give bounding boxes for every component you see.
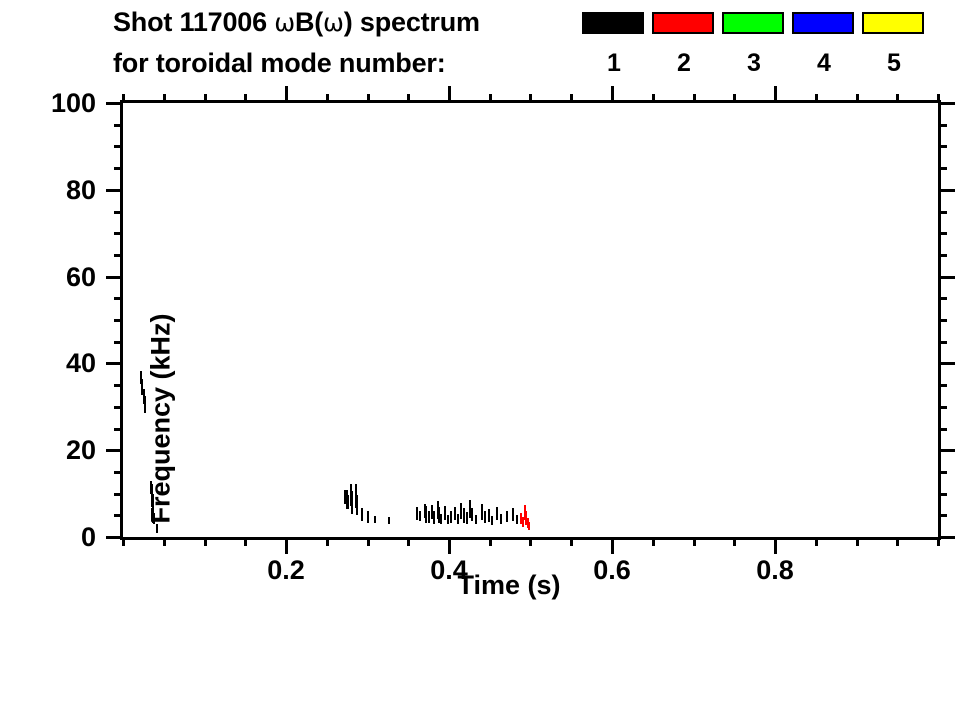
data-mark xyxy=(361,508,363,521)
data-mark xyxy=(471,508,473,521)
x-minor-tick-top xyxy=(122,94,125,103)
x-minor-tick-bottom xyxy=(367,537,370,546)
data-mark xyxy=(416,507,418,519)
omega-symbol-2: ω xyxy=(323,8,344,37)
y-minor-tick-left xyxy=(114,254,123,257)
y-major-tick-left-40 xyxy=(106,362,123,365)
plot-data-canvas xyxy=(123,103,938,537)
x-minor-tick-bottom xyxy=(937,537,940,546)
y-tick-label-20: 20 xyxy=(6,437,96,464)
y-minor-tick-left xyxy=(114,514,123,517)
x-minor-tick-top xyxy=(652,94,655,103)
data-mark xyxy=(506,511,508,522)
x-minor-tick-top xyxy=(244,94,247,103)
x-major-tick-bottom-0.4 xyxy=(448,537,451,554)
y-major-tick-right-60 xyxy=(938,276,955,279)
data-mark xyxy=(496,507,498,521)
legend-label-3: 3 xyxy=(722,50,786,76)
x-major-tick-bottom-0.8 xyxy=(774,537,777,554)
x-minor-tick-bottom xyxy=(733,537,736,546)
x-minor-tick-bottom xyxy=(407,537,410,546)
data-mark xyxy=(528,522,530,530)
y-tick-label-80: 80 xyxy=(6,177,96,204)
x-minor-tick-bottom xyxy=(489,537,492,546)
legend-swatch-2 xyxy=(652,12,714,34)
y-minor-tick-right xyxy=(938,124,947,127)
y-minor-tick-left xyxy=(114,319,123,322)
y-minor-tick-left xyxy=(114,471,123,474)
x-minor-tick-top xyxy=(407,94,410,103)
y-minor-tick-left xyxy=(114,493,123,496)
legend-label-5: 5 xyxy=(862,50,926,76)
omega-symbol-1: ω xyxy=(274,8,295,37)
legend-label-4: 4 xyxy=(792,50,856,76)
spectrogram-figure: Shot 117006 ωB(ω) spectrum for toroidal … xyxy=(0,0,963,615)
y-major-tick-left-100 xyxy=(106,102,123,105)
data-mark xyxy=(347,495,349,509)
legend: 12345 xyxy=(582,12,952,88)
y-minor-tick-right xyxy=(938,428,947,431)
data-mark xyxy=(488,509,490,522)
y-minor-tick-right xyxy=(938,384,947,387)
legend-item-4: 4 xyxy=(792,12,856,76)
x-minor-tick-bottom xyxy=(244,537,247,546)
data-mark xyxy=(425,506,427,522)
legend-swatch-3 xyxy=(722,12,784,34)
x-major-tick-top-0.2 xyxy=(285,86,288,103)
y-major-tick-right-100 xyxy=(938,102,955,105)
x-axis-title-text: Time (s) xyxy=(457,570,560,601)
y-minor-tick-right xyxy=(938,232,947,235)
x-minor-tick-bottom xyxy=(693,537,696,546)
y-minor-tick-right xyxy=(938,319,947,322)
y-tick-label-100: 100 xyxy=(6,90,96,117)
x-minor-tick-top xyxy=(529,94,532,103)
data-mark xyxy=(481,504,483,520)
y-tick-label-60: 60 xyxy=(6,264,96,291)
x-minor-tick-bottom xyxy=(652,537,655,546)
y-minor-tick-left xyxy=(114,145,123,148)
y-major-tick-right-80 xyxy=(938,189,955,192)
x-minor-tick-top xyxy=(367,94,370,103)
data-mark xyxy=(444,506,446,520)
y-major-tick-left-20 xyxy=(106,449,123,452)
y-major-tick-right-40 xyxy=(938,362,955,365)
y-minor-tick-right xyxy=(938,406,947,409)
y-minor-tick-right xyxy=(938,493,947,496)
x-minor-tick-top xyxy=(896,94,899,103)
data-mark xyxy=(466,512,468,523)
data-mark xyxy=(440,514,442,524)
y-major-tick-right-20 xyxy=(938,449,955,452)
data-mark xyxy=(500,514,502,524)
legend-label-2: 2 xyxy=(652,50,716,76)
x-minor-tick-top xyxy=(326,94,329,103)
y-major-tick-left-80 xyxy=(106,189,123,192)
data-mark xyxy=(450,511,452,522)
data-mark xyxy=(374,516,376,523)
legend-label-1: 1 xyxy=(582,50,646,76)
x-major-tick-bottom-0.2 xyxy=(285,537,288,554)
y-minor-tick-right xyxy=(938,514,947,517)
x-major-tick-top-0.4 xyxy=(448,86,451,103)
legend-item-3: 3 xyxy=(722,12,786,76)
x-minor-tick-top xyxy=(204,94,207,103)
x-minor-tick-bottom xyxy=(815,537,818,546)
y-minor-tick-right xyxy=(938,471,947,474)
legend-item-1: 1 xyxy=(582,12,646,76)
x-minor-tick-bottom xyxy=(529,537,532,546)
legend-item-2: 2 xyxy=(652,12,716,76)
data-mark xyxy=(491,516,493,525)
y-minor-tick-right xyxy=(938,167,947,170)
y-major-tick-left-0 xyxy=(106,536,123,539)
data-mark xyxy=(454,507,456,520)
x-minor-tick-top xyxy=(489,94,492,103)
x-minor-tick-top xyxy=(570,94,573,103)
x-minor-tick-top xyxy=(856,94,859,103)
data-mark xyxy=(356,495,358,515)
figure-title-line-2: for toroidal mode number: xyxy=(113,47,446,79)
title-suffix: ) spectrum xyxy=(344,7,480,37)
y-tick-label-40: 40 xyxy=(6,350,96,377)
x-minor-tick-bottom xyxy=(856,537,859,546)
x-major-tick-bottom-0.6 xyxy=(611,537,614,554)
x-minor-tick-bottom xyxy=(326,537,329,546)
y-axis-title: Frequency (kHz) xyxy=(146,119,177,719)
figure-title-line-1: Shot 117006 ωB(ω) spectrum xyxy=(113,6,480,39)
plot-area: 0204060801000.20.40.60.8 Frequency (kHz) xyxy=(120,100,941,540)
data-mark xyxy=(447,515,449,524)
legend-item-5: 5 xyxy=(862,12,926,76)
data-mark xyxy=(433,511,435,524)
x-major-tick-top-0.8 xyxy=(774,86,777,103)
x-minor-tick-bottom xyxy=(122,537,125,546)
x-minor-tick-top xyxy=(693,94,696,103)
y-minor-tick-right xyxy=(938,211,947,214)
data-mark xyxy=(419,511,421,521)
data-mark xyxy=(367,511,369,522)
x-minor-tick-bottom xyxy=(204,537,207,546)
data-mark xyxy=(428,511,430,522)
y-major-tick-right-0 xyxy=(938,536,955,539)
x-minor-tick-bottom xyxy=(896,537,899,546)
legend-swatch-5 xyxy=(862,12,924,34)
data-mark xyxy=(475,515,477,525)
y-minor-tick-right xyxy=(938,341,947,344)
data-mark xyxy=(484,511,486,523)
y-minor-tick-right xyxy=(938,254,947,257)
data-mark xyxy=(516,515,518,524)
data-mark xyxy=(457,514,459,524)
y-minor-tick-left xyxy=(114,211,123,214)
y-minor-tick-left xyxy=(114,406,123,409)
legend-swatch-1 xyxy=(582,12,644,34)
title-mid: B( xyxy=(295,7,323,37)
y-minor-tick-right xyxy=(938,145,947,148)
y-minor-tick-left xyxy=(114,167,123,170)
y-tick-label-0: 0 xyxy=(6,524,96,551)
x-minor-tick-top xyxy=(733,94,736,103)
data-mark xyxy=(463,508,465,523)
x-minor-tick-bottom xyxy=(570,537,573,546)
y-minor-tick-left xyxy=(114,232,123,235)
y-minor-tick-right xyxy=(938,297,947,300)
x-axis-title: Time (s) xyxy=(0,570,963,601)
y-minor-tick-left xyxy=(114,428,123,431)
y-minor-tick-left xyxy=(114,384,123,387)
y-major-tick-left-60 xyxy=(106,276,123,279)
y-minor-tick-left xyxy=(114,297,123,300)
x-minor-tick-top xyxy=(815,94,818,103)
title-prefix: Shot 117006 xyxy=(113,7,274,37)
x-major-tick-top-0.6 xyxy=(611,86,614,103)
y-minor-tick-left xyxy=(114,341,123,344)
data-mark xyxy=(351,491,353,514)
data-mark xyxy=(388,517,390,523)
legend-swatch-4 xyxy=(792,12,854,34)
x-minor-tick-top xyxy=(163,94,166,103)
data-mark xyxy=(512,508,514,521)
y-minor-tick-left xyxy=(114,124,123,127)
x-minor-tick-top xyxy=(937,94,940,103)
